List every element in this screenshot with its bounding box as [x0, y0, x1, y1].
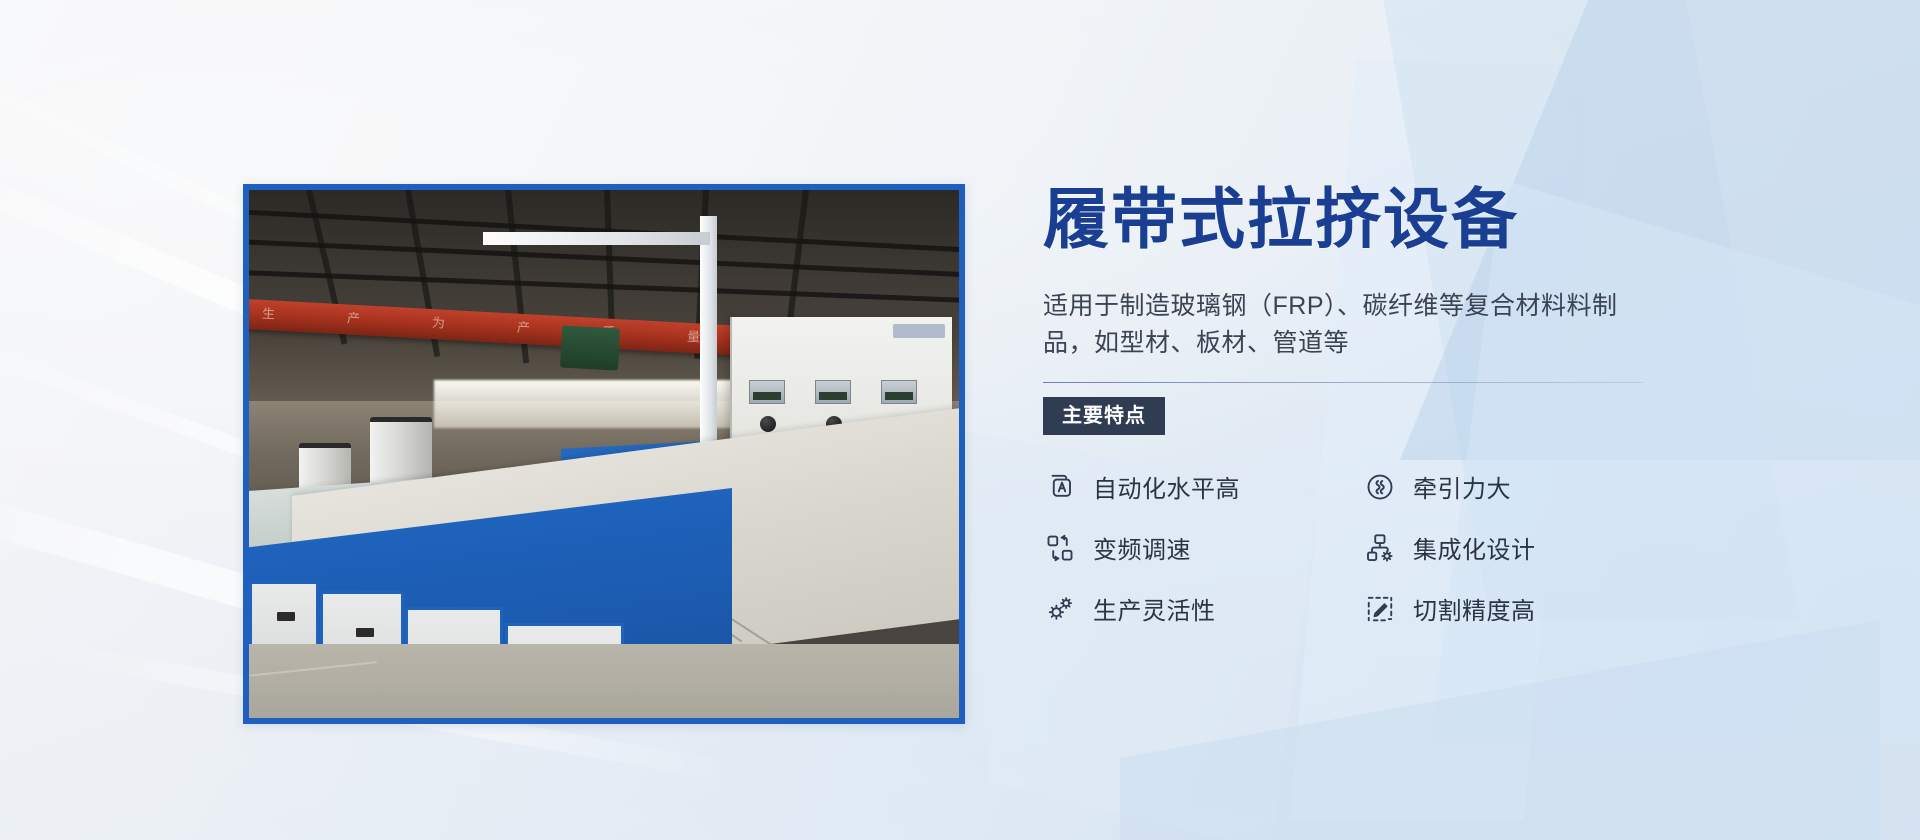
page-title: 履带式拉挤设备 [1043, 186, 1723, 252]
feature-label: 牵引力大 [1413, 469, 1511, 504]
banner-subtitle: 适用于制造玻璃钢（FRP）、碳纤维等复合材料料制品，如型材、板材、管道等 [1043, 288, 1643, 362]
traction-waves-icon [1363, 470, 1397, 504]
crane-hoist [560, 326, 620, 371]
product-banner: 生 产 为 产 质 量 [0, 0, 1920, 840]
factory-photo: 生 产 为 产 质 量 [249, 190, 959, 718]
feature-item-flexibility: 生产灵活性 [1043, 591, 1343, 626]
cut-precision-icon [1363, 592, 1397, 626]
gears-icon [1043, 592, 1077, 626]
feature-label: 集成化设计 [1413, 530, 1536, 565]
feature-item-automation: 自动化水平高 [1043, 469, 1343, 504]
banner-content: 履带式拉挤设备 适用于制造玻璃钢（FRP）、碳纤维等复合材料料制品，如型材、板材… [1043, 186, 1723, 626]
status-badge: 主要特点 [1043, 397, 1165, 435]
feature-item-cut-precision: 切割精度高 [1363, 591, 1663, 626]
frequency-nodes-icon [1043, 531, 1077, 565]
feature-list: 自动化水平高 牵引力大 [1043, 469, 1663, 626]
support-beam [483, 232, 710, 245]
integration-gear-icon [1363, 531, 1397, 565]
feature-label: 切割精度高 [1413, 591, 1536, 626]
product-photo-card: 生 产 为 产 质 量 [243, 184, 965, 724]
feature-item-integration: 集成化设计 [1363, 530, 1663, 565]
workshop-floor [249, 644, 959, 718]
automation-a-icon [1043, 470, 1077, 504]
divider [1043, 382, 1643, 383]
feature-label: 自动化水平高 [1093, 469, 1240, 504]
cabinet-brand-plate [893, 324, 945, 338]
feature-item-traction: 牵引力大 [1363, 469, 1663, 504]
feature-item-frequency: 变频调速 [1043, 530, 1343, 565]
feature-label: 变频调速 [1093, 530, 1191, 565]
feature-label: 生产灵活性 [1093, 591, 1216, 626]
